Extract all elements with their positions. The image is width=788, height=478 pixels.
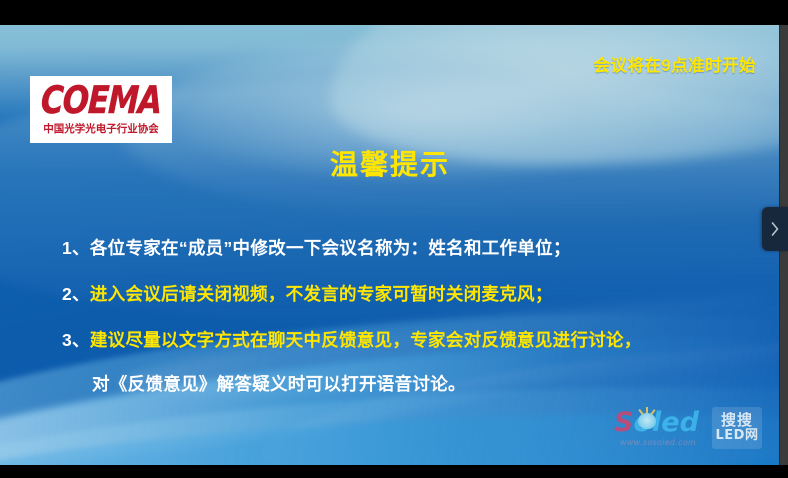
slide-title: 温馨提示	[0, 143, 780, 183]
list-item-marker: 1、	[62, 238, 90, 258]
letterbox-bottom	[0, 465, 788, 478]
slide-body-list: 1、各位专家在“成员”中修改一下会议名称为：姓名和工作单位； 2、进入会议后请关…	[62, 225, 752, 405]
soled-watermark: Soled www.sosoled.com 搜搜 LED网	[614, 405, 762, 459]
list-item-marker: 3、	[62, 330, 90, 350]
coema-logo-wordmark: COEMA	[40, 82, 162, 120]
soled-watermark-cn-line2: LED网	[716, 429, 759, 443]
coema-logo: COEMA 中国光学光电子行业协会	[30, 76, 172, 143]
list-item-marker: 2、	[62, 284, 90, 304]
presentation-slide: COEMA 中国光学光电子行业协会 会议将在9点准时开始 温馨提示 1、各位专家…	[0, 25, 780, 465]
list-item-text: 进入会议后请关闭视频，不发言的专家可暂时关闭麦克风；	[90, 284, 553, 304]
screen-root: COEMA 中国光学光电子行业协会 会议将在9点准时开始 温馨提示 1、各位专家…	[0, 0, 788, 478]
list-item: 3、建议尽量以文字方式在聊天中反馈意见，专家会对反馈意见进行讨论，	[62, 317, 752, 363]
chevron-right-icon	[770, 221, 780, 237]
coema-logo-subtitle: 中国光学光电子行业协会	[43, 124, 159, 135]
list-item-continuation-text: 对《反馈意见》解答疑义时可以打开语音讨论。	[92, 374, 466, 394]
soled-watermark-initial: S	[614, 407, 633, 438]
soled-watermark-cn: 搜搜 LED网	[712, 407, 762, 449]
list-item: 1、各位专家在“成员”中修改一下会议名称为：姓名和工作单位；	[62, 225, 752, 271]
list-item-continuation: 对《反馈意见》解答疑义时可以打开语音讨论。	[62, 363, 752, 405]
list-item: 2、进入会议后请关闭视频，不发言的专家可暂时关闭麦克风；	[62, 271, 752, 317]
light-bulb-icon	[636, 407, 658, 431]
soled-watermark-cn-line1: 搜搜	[721, 413, 753, 429]
soled-watermark-url: www.sosoled.com	[620, 438, 696, 447]
letterbox-top	[0, 0, 788, 25]
list-item-text: 各位专家在“成员”中修改一下会议名称为：姓名和工作单位；	[90, 238, 571, 258]
meeting-start-banner: 会议将在9点准时开始	[593, 52, 756, 76]
panel-expander-button[interactable]	[762, 207, 788, 251]
list-item-text: 建议尽量以文字方式在聊天中反馈意见，专家会对反馈意见进行讨论，	[90, 330, 642, 350]
